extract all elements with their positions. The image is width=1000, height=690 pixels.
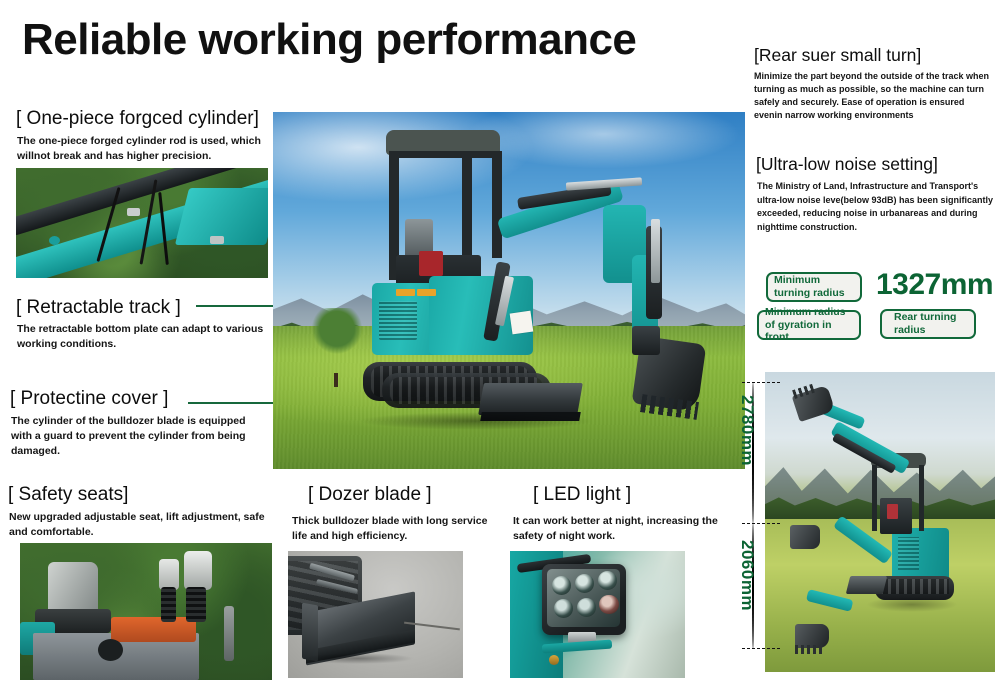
section-heading-rear-small-turn: [Rear suer small turn]: [754, 45, 921, 65]
section-heading-protective-cover: [ Protectine cover ]: [10, 388, 168, 410]
photo-dozer-blade: [288, 551, 463, 678]
page-title: Reliable working performance: [22, 16, 636, 64]
photo-led-light: [510, 551, 685, 678]
badge-minimum-radius-gyration-front: Minimum radius of gyration in front: [757, 310, 861, 340]
section-body-protective-cover: The cylinder of the bulldozer blade is e…: [11, 414, 267, 459]
photo-hero-excavator: [273, 112, 745, 469]
value-minimum-turning-radius: 1327mm: [876, 268, 993, 302]
section-heading-retractable-track: [ Retractable track ]: [16, 297, 181, 319]
dimension-tick-bottom: [742, 648, 780, 649]
section-body-dozer-blade: Thick bulldozer blade with long service …: [292, 514, 492, 544]
section-heading-led-light: [ LED light ]: [533, 484, 631, 506]
dimension-tick-middle: [742, 523, 780, 524]
badge-rear-turning-radius: Rear turning radius: [880, 309, 976, 339]
badge-minimum-turning-radius: Minimum turning radius: [766, 272, 862, 302]
dimension-tick-top: [742, 382, 780, 383]
photo-safety-seats: [20, 543, 272, 680]
section-body-retractable-track: The retractable bottom plate can adapt t…: [17, 322, 267, 352]
photo-one-piece-cylinder: [16, 168, 268, 278]
section-heading-safety-seats: [ Safety seats]: [8, 484, 128, 506]
section-heading-dozer-blade: [ Dozer blade ]: [308, 484, 432, 506]
section-body-rear-small-turn: Minimize the part beyond the outside of …: [754, 70, 994, 122]
section-body-safety-seats: New upgraded adjustable seat, lift adjus…: [9, 510, 277, 540]
dimension-label-2060mm: 2060mm: [737, 540, 757, 611]
section-heading-ultra-low-noise: [Ultra-low noise setting]: [756, 154, 938, 174]
marketing-infographic-page: Reliable working performance [ One-piece…: [0, 0, 1000, 690]
dimension-label-2780mm: 2780mm: [737, 395, 757, 466]
photo-reach-diagram: [765, 372, 995, 672]
section-body-one-piece-cylinder: The one-piece forged cylinder rod is use…: [17, 134, 267, 164]
section-heading-one-piece-cylinder: [ One-piece forgced cylinder]: [16, 108, 259, 130]
section-body-led-light: It can work better at night, increasing …: [513, 514, 725, 544]
section-body-ultra-low-noise: The Ministry of Land, Infrastructure and…: [757, 180, 999, 234]
